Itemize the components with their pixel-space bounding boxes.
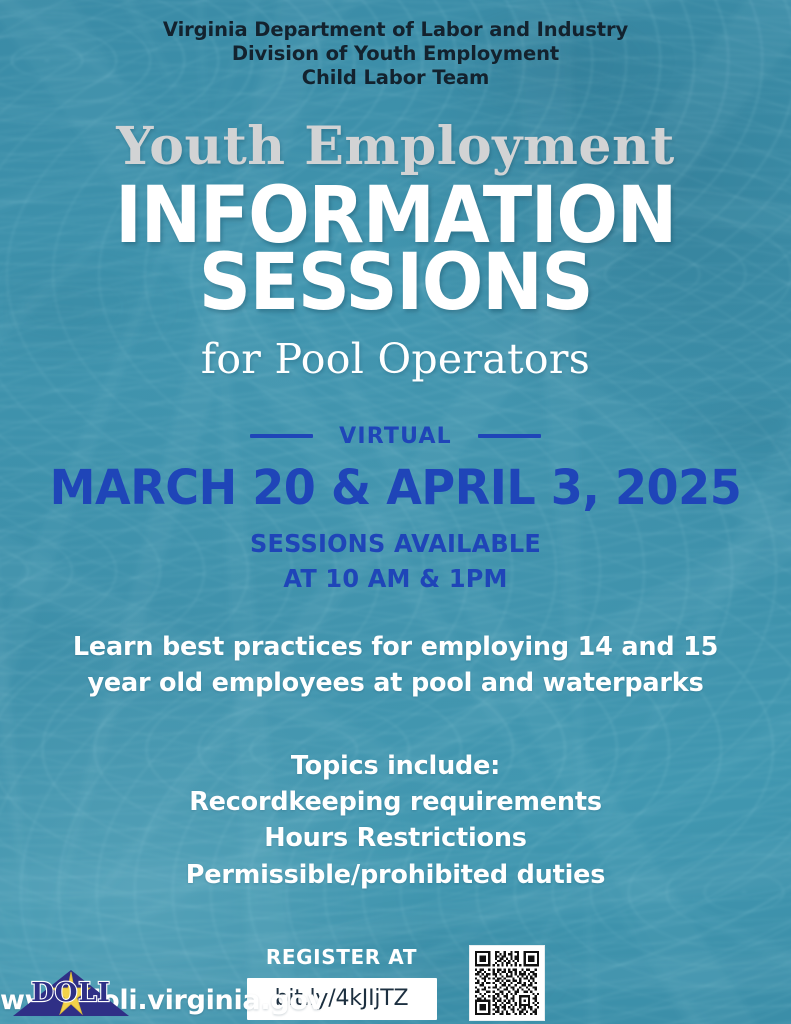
agency-line-3: Child Labor Team (0, 66, 791, 90)
virtual-label: VIRTUAL (339, 424, 452, 449)
poster-content: Virginia Department of Labor and Industr… (0, 0, 791, 1024)
divider-rule-left (250, 434, 313, 438)
agency-header: Virginia Department of Labor and Industr… (0, 0, 791, 91)
register-label: REGISTER AT (247, 945, 437, 969)
sessions-available-label: SESSIONS AVAILABLE (16, 526, 775, 562)
session-times: AT 10 AM & 1PM (16, 561, 775, 597)
body-line-2: year old employees at pool and waterpark… (0, 665, 791, 702)
event-dates: MARCH 20 & APRIL 3, 2025 (16, 463, 775, 514)
topics-list: Topics include: Recordkeeping requiremen… (0, 748, 791, 893)
topic-item: Hours Restrictions (0, 820, 791, 856)
doli-logo: DOLI (10, 968, 132, 1020)
sessions-availability: SESSIONS AVAILABLE AT 10 AM & 1PM (16, 526, 775, 597)
title-subtitle: for Pool Operators (0, 339, 791, 380)
topic-item: Permissible/prohibited duties (0, 857, 791, 893)
poster-flyer: Virginia Department of Labor and Industr… (0, 0, 791, 1024)
doli-logo-text: DOLI (31, 978, 111, 1008)
topics-heading: Topics include: (0, 748, 791, 784)
virtual-row: VIRTUAL (0, 424, 791, 449)
divider-rule-right (478, 434, 541, 438)
body-line-1: Learn best practices for employing 14 an… (0, 629, 791, 666)
title-script-line: Youth Employment (0, 121, 791, 173)
agency-line-2: Division of Youth Employment (0, 42, 791, 66)
agency-line-1: Virginia Department of Labor and Industr… (0, 18, 791, 42)
topic-item: Recordkeeping requirements (0, 784, 791, 820)
title-sessions: SESSIONS (28, 250, 764, 317)
body-description: Learn best practices for employing 14 an… (0, 629, 791, 702)
